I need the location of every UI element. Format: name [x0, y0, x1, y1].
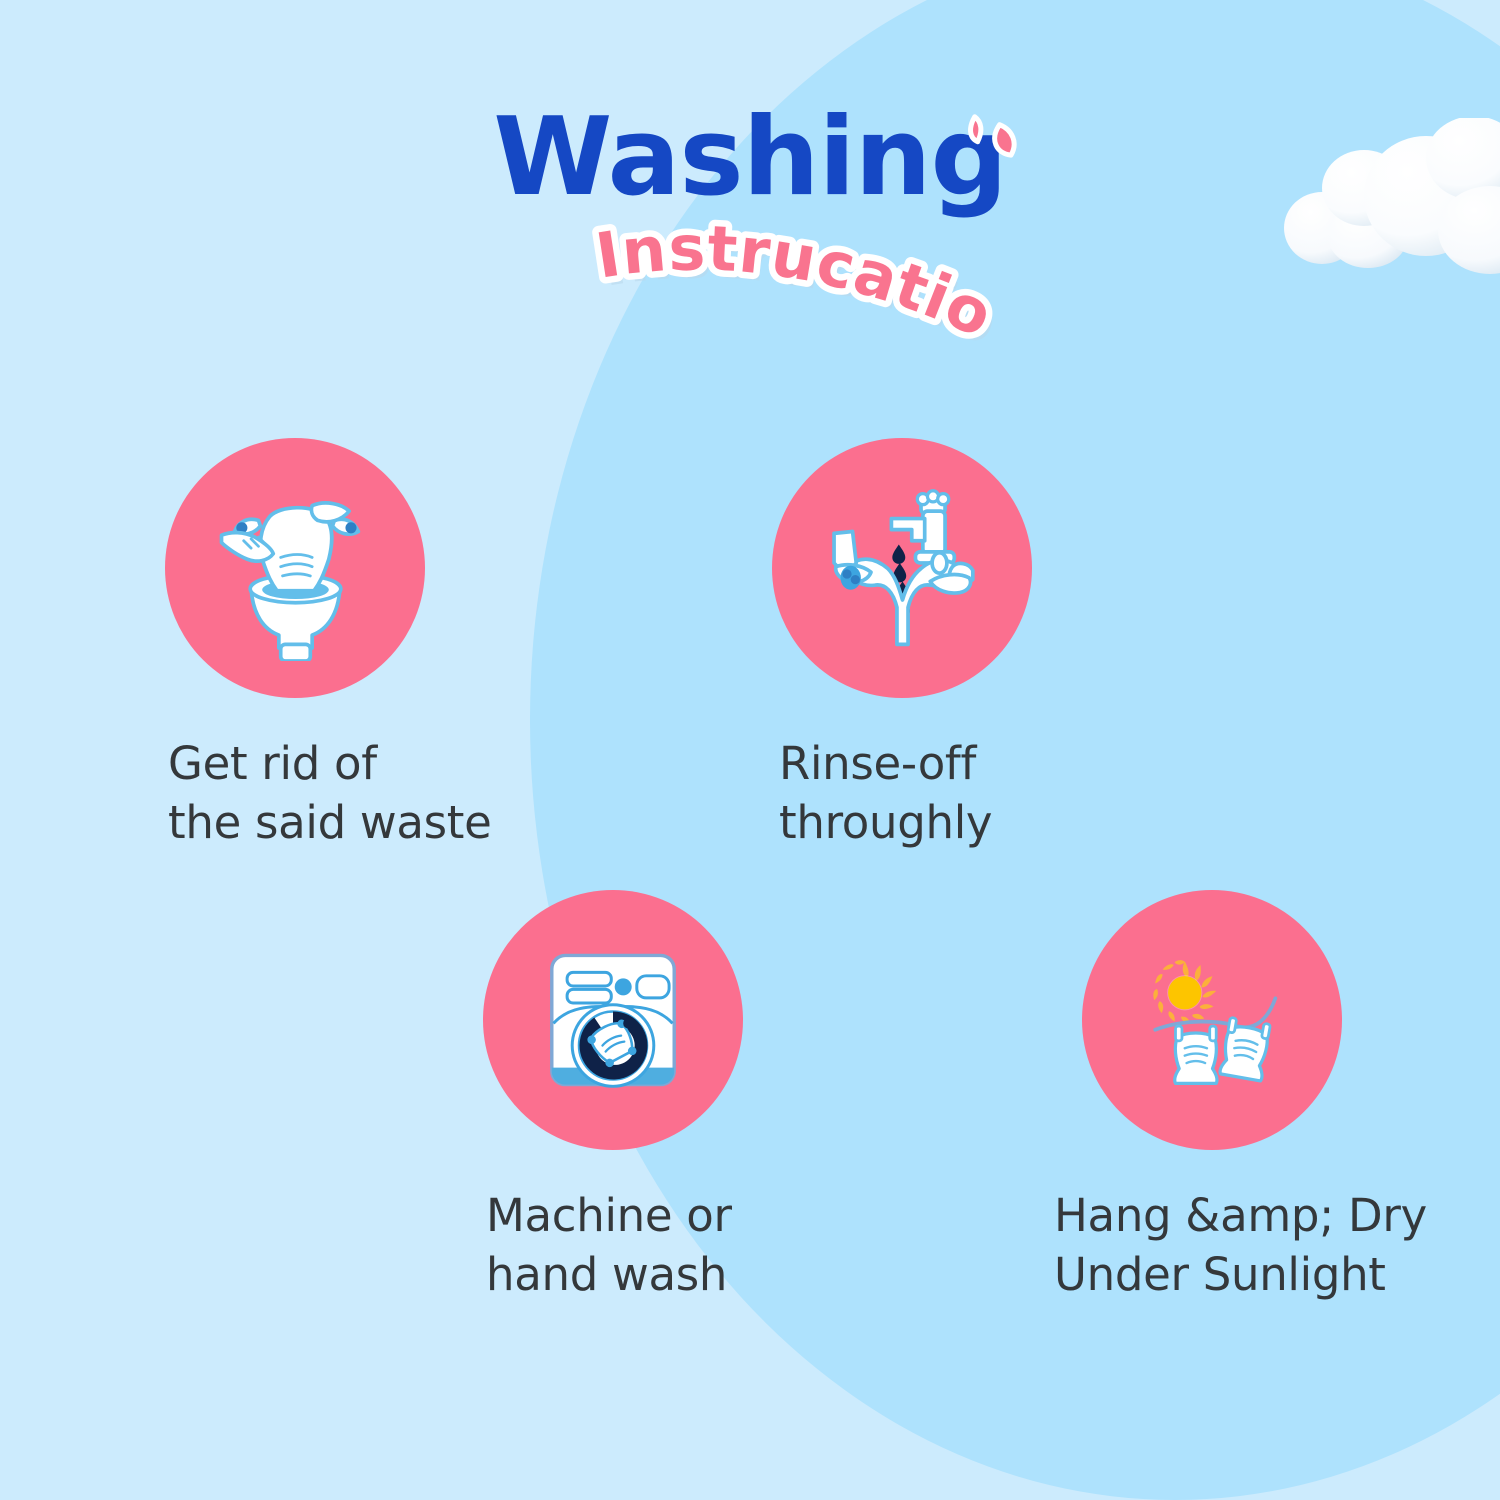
step-3-badge [483, 890, 743, 1150]
sun-icon [1153, 960, 1216, 1024]
page-subtitle: Instrucation Instrucation Instrucation [0, 218, 1500, 378]
clothesline-sun-icon [1120, 928, 1305, 1113]
step-2-badge [772, 438, 1032, 698]
toilet-empty-waste-icon [203, 476, 388, 661]
washing-machine-icon [528, 935, 698, 1105]
step-3-label: Machine or hand wash [486, 1186, 743, 1305]
step-machine-or-hand-wash: Machine or hand wash [483, 890, 743, 1305]
pink-accent-marks-icon [948, 108, 1028, 188]
page-title: Washing [0, 104, 1500, 212]
washing-instruction-poster: Washing Instrucation [0, 0, 1500, 1500]
step-hang-and-dry: Hang &amp; Dry Under Sunlight [1082, 890, 1427, 1305]
step-2-label: Rinse-off throughly [779, 734, 1032, 853]
step-1-label: Get rid of the said waste [168, 734, 492, 853]
step-4-badge [1082, 890, 1342, 1150]
step-4-label: Hang &amp; Dry Under Sunlight [1054, 1186, 1427, 1305]
step-1-badge [165, 438, 425, 698]
faucet-rinse-icon [810, 476, 995, 661]
step-get-rid-of-waste: Get rid of the said waste [165, 438, 492, 853]
poster-header: Washing Instrucation [0, 0, 1500, 380]
step-rinse-off: Rinse-off throughly [772, 438, 1032, 853]
